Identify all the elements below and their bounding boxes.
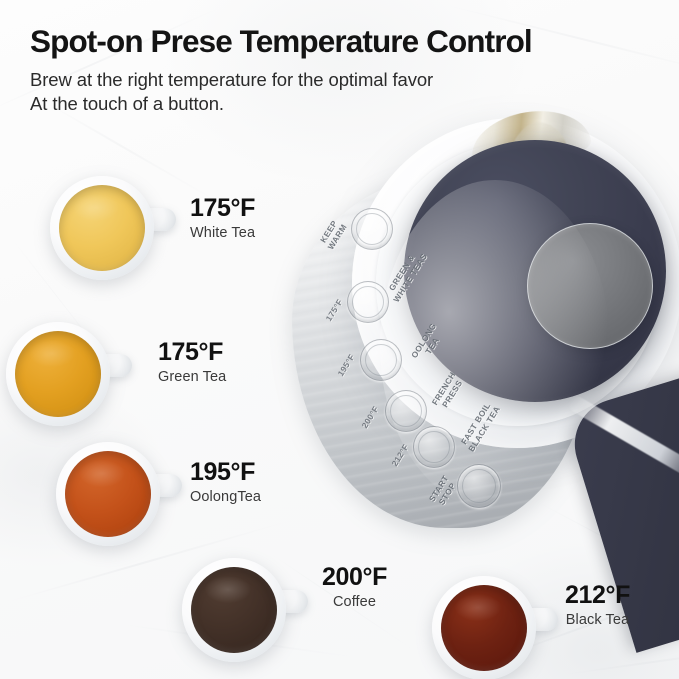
callout-green-tea: 175°F Green Tea <box>158 340 226 385</box>
callout-temperature: 195°F <box>190 460 261 485</box>
cup-liquid <box>191 567 277 653</box>
callout-temperature: 175°F <box>190 196 255 221</box>
marble-vein <box>561 646 679 675</box>
product-feature-image: Spot-on Prese Temperature Control Brew a… <box>0 0 679 679</box>
callout-temperature: 212°F <box>565 583 630 608</box>
callout-oolong-tea: 195°F OolongTea <box>190 460 261 505</box>
preset-button-green-white-teas[interactable] <box>347 281 389 323</box>
callout-coffee: 200°F Coffee <box>322 565 387 610</box>
preset-button-fast-boil-black-tea[interactable] <box>413 426 455 468</box>
callout-label: Green Tea <box>158 370 226 385</box>
preset-button-french-press[interactable] <box>385 390 427 432</box>
callout-white-tea: 175°F White Tea <box>190 196 255 241</box>
preset-button-oolong-tea[interactable] <box>360 339 402 381</box>
cup-liquid <box>15 331 101 417</box>
subtitle-line-2: At the touch of a button. <box>30 92 670 116</box>
callout-temperature: 200°F <box>322 565 387 590</box>
page-title: Spot-on Prese Temperature Control <box>30 24 670 59</box>
preset-button-start-stop[interactable] <box>457 464 501 508</box>
subtitle-line-1: Brew at the right temperature for the op… <box>30 68 670 92</box>
callout-label: Black Tea <box>565 613 630 628</box>
callout-label: OolongTea <box>190 490 261 505</box>
callout-label: Coffee <box>322 595 387 610</box>
cup-liquid <box>441 585 527 671</box>
cup-liquid <box>59 185 145 271</box>
callout-temperature: 175°F <box>158 340 226 365</box>
cup-liquid <box>65 451 151 537</box>
callout-black-tea: 212°F Black Tea <box>565 583 630 628</box>
callout-label: White Tea <box>190 226 255 241</box>
header: Spot-on Prese Temperature Control Brew a… <box>30 24 670 116</box>
page-subtitle: Brew at the right temperature for the op… <box>30 68 670 116</box>
preset-button-keep-warm[interactable] <box>351 208 393 250</box>
